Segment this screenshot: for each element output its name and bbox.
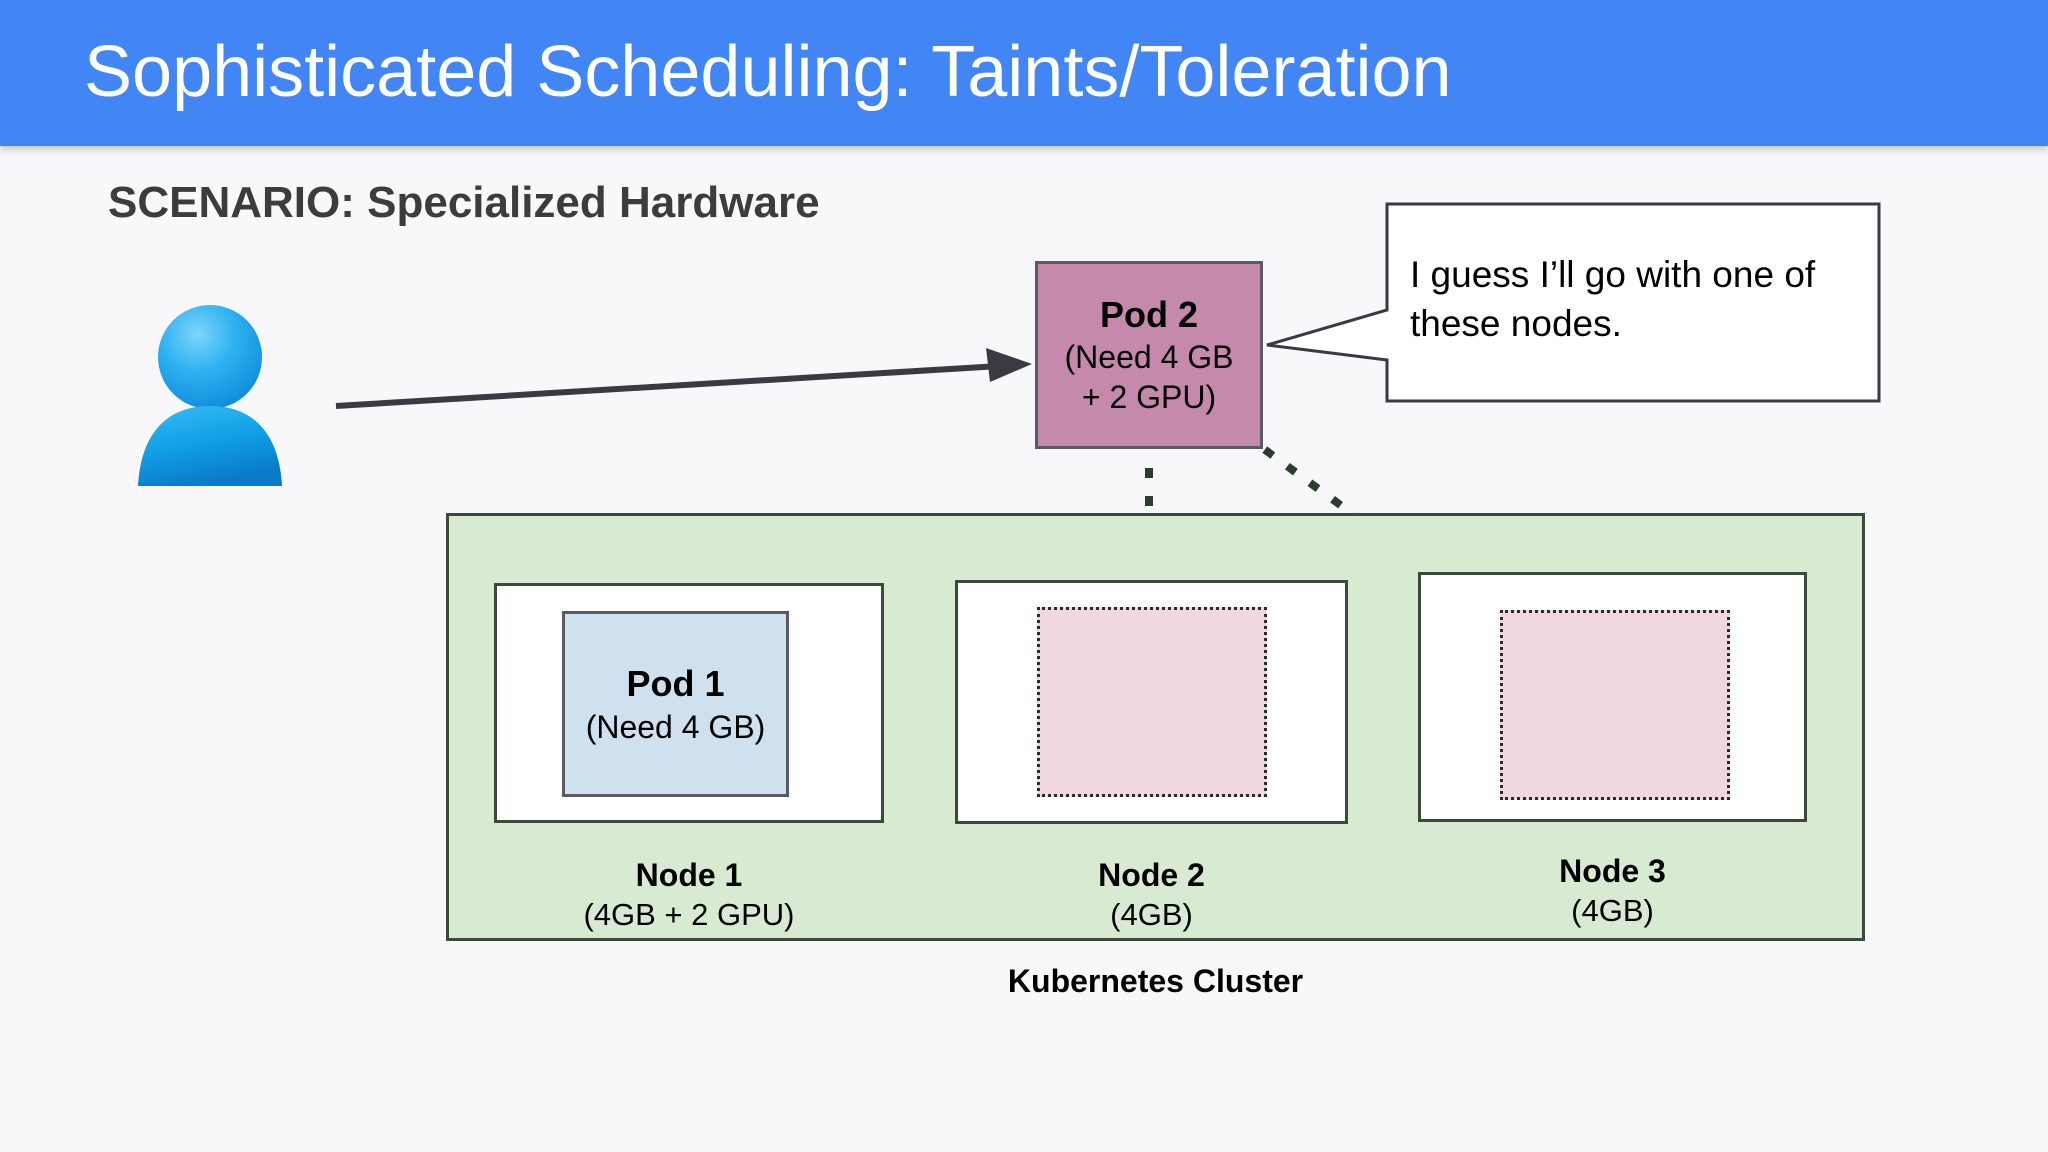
- speech-bubble-text: I guess I’ll go with one of these nodes.: [1410, 250, 1865, 348]
- scenario-heading: SCENARIO: Specialized Hardware: [108, 178, 820, 228]
- pod1-box[interactable]: Pod 1 (Need 4 GB): [562, 611, 789, 797]
- cluster-caption: Kubernetes Cluster: [446, 963, 1865, 1000]
- node-3-name: Node 3: [1418, 851, 1807, 891]
- node-2-label: Node 2 (4GB): [955, 855, 1348, 935]
- pod2-requirements-line2: + 2 GPU): [1082, 377, 1216, 417]
- node-3-pod-slot[interactable]: [1500, 610, 1730, 800]
- node-1-label: Node 1 (4GB + 2 GPU): [494, 855, 884, 935]
- pod2-box[interactable]: Pod 2 (Need 4 GB + 2 GPU): [1035, 261, 1263, 449]
- pod1-title: Pod 1: [626, 661, 724, 707]
- person-icon: [126, 300, 294, 486]
- node-1-name: Node 1: [494, 855, 884, 895]
- node-3-spec: (4GB): [1418, 891, 1807, 931]
- title-bar: Sophisticated Scheduling: Taints/Tolerat…: [0, 0, 2048, 146]
- node-2-name: Node 2: [955, 855, 1348, 895]
- page-title: Sophisticated Scheduling: Taints/Tolerat…: [84, 22, 1452, 122]
- pod1-requirements: (Need 4 GB): [586, 707, 766, 747]
- node-3-label: Node 3 (4GB): [1418, 851, 1807, 931]
- node-2-spec: (4GB): [955, 895, 1348, 935]
- pod2-requirements-line1: (Need 4 GB: [1065, 337, 1234, 377]
- pod2-title: Pod 2: [1100, 293, 1198, 337]
- node-2-pod-slot[interactable]: [1037, 607, 1267, 797]
- user-to-pod2-arrow: [336, 348, 1032, 406]
- node-1-spec: (4GB + 2 GPU): [494, 895, 884, 935]
- slide-canvas: Sophisticated Scheduling: Taints/Tolerat…: [0, 0, 2048, 1152]
